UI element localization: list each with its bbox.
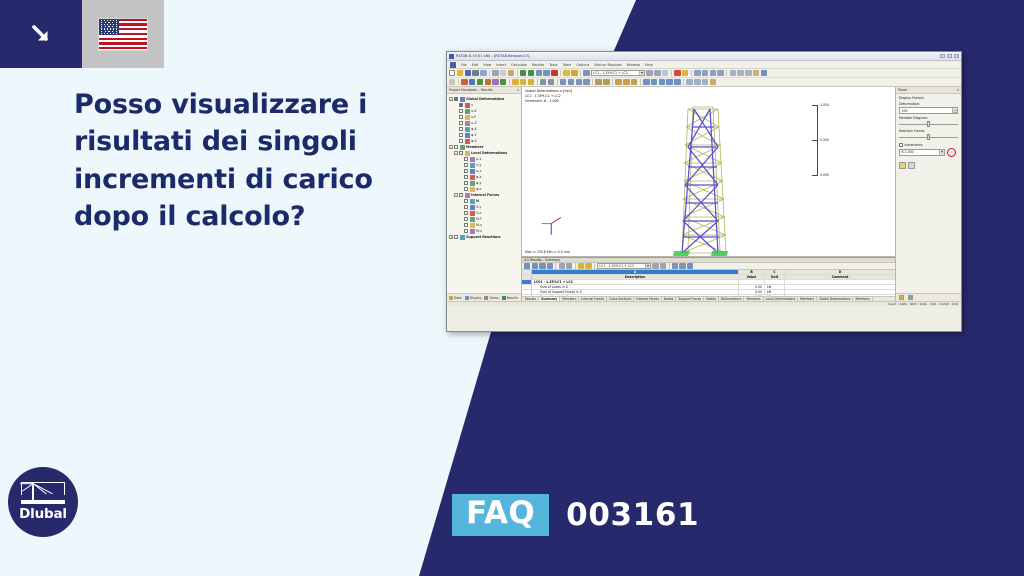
table-tab[interactable]: Members: [560, 296, 579, 301]
filter-icon[interactable]: [560, 79, 566, 85]
table-prev-icon[interactable]: [652, 263, 658, 269]
tree-spacer: [454, 139, 458, 143]
layer-icon[interactable]: [583, 79, 589, 85]
navigator-tab-data[interactable]: Data: [449, 296, 462, 300]
tree-spacer: [454, 133, 458, 137]
text-icon[interactable]: [548, 79, 554, 85]
tree-item-icon: [465, 121, 470, 126]
tree-checkbox[interactable]: [454, 97, 458, 101]
navigator-footer-tabs[interactable]: Data Display Views Results: [447, 293, 521, 301]
tree-item-icon: [460, 145, 465, 150]
tree-item-label: V-z: [476, 211, 481, 215]
table-tab[interactable]: Nodes: [704, 296, 719, 301]
table-copy-icon[interactable]: [566, 263, 572, 269]
diagram-icon[interactable]: [682, 70, 688, 76]
transparent-icon[interactable]: [631, 79, 637, 85]
navigator-tab-results[interactable]: Results: [502, 296, 519, 300]
table-tab[interactable]: Members: [744, 296, 763, 301]
toolbar-separator: [669, 263, 670, 269]
tree-item-label: M-T: [476, 217, 482, 221]
table-export-icon[interactable]: [547, 263, 553, 269]
table-select-icon[interactable]: [524, 263, 530, 269]
table-tab[interactable]: Local Deformations: [764, 296, 798, 301]
help-icon[interactable]: [761, 70, 767, 76]
zoom-out-icon[interactable]: [543, 70, 549, 76]
open-icon[interactable]: [457, 70, 463, 76]
snap-icon[interactable]: [737, 70, 743, 76]
dlubal-logo[interactable]: Dlubal: [8, 467, 78, 537]
row-handle: [522, 270, 532, 274]
section-icon[interactable]: [500, 79, 506, 85]
load-surface-icon[interactable]: [528, 79, 534, 85]
isometric-icon[interactable]: [595, 79, 601, 85]
node-icon[interactable]: [461, 79, 467, 85]
app-icon: [449, 54, 454, 59]
menu-item-insert[interactable]: Insert: [496, 63, 506, 67]
cell-value: 0.00: [739, 285, 765, 289]
render-icon[interactable]: [662, 70, 668, 76]
ortho-icon[interactable]: [745, 70, 751, 76]
navigator-tab-views[interactable]: Views: [484, 296, 498, 300]
window-title: RSTAB 8.19.01 x64 - [RSTAB-Beispiel-07]: [456, 54, 938, 58]
tree-toggle-icon[interactable]: +: [449, 235, 453, 239]
menu-item-table[interactable]: Table: [563, 63, 572, 67]
deformation-spinner[interactable]: 100: [899, 107, 958, 114]
cell-comment: [785, 285, 895, 289]
chevron-down-icon[interactable]: [939, 150, 944, 155]
tree-item-label: Members: [466, 145, 483, 149]
group-icon[interactable]: [576, 79, 582, 85]
menu-item-calculate[interactable]: Calculate: [511, 63, 527, 67]
tree-item-icon: [465, 115, 470, 120]
tree-checkbox[interactable]: [459, 109, 463, 113]
table-help-icon[interactable]: [687, 263, 693, 269]
navigator-header: Project Navigator - Results x: [447, 87, 521, 94]
result-iso-icon[interactable]: [659, 79, 665, 85]
deformation-label: Deformation:: [899, 102, 958, 106]
reaction-forces-slider[interactable]: [899, 134, 958, 140]
table-print-icon[interactable]: [559, 263, 565, 269]
tree-spacer: [459, 211, 463, 215]
table-column-header[interactable]: Comment: [785, 275, 895, 279]
cell-unit: kN: [765, 290, 785, 294]
increments-combo[interactable]: 6 1.000: [899, 149, 945, 156]
row-handle[interactable]: [522, 290, 532, 294]
display-panel[interactable]: Panel x Display Factors Deformation: 100…: [895, 87, 961, 301]
tree-checkbox[interactable]: [464, 199, 468, 203]
visibility-icon[interactable]: [568, 79, 574, 85]
member-diagram-label: Member Diagram:: [899, 116, 958, 120]
panel-lock-icon[interactable]: [899, 295, 904, 300]
tree-checkbox[interactable]: [459, 151, 463, 155]
toolbar-row-2[interactable]: [447, 78, 961, 87]
table-tab[interactable]: Internal Forces: [634, 296, 662, 301]
tree-checkbox[interactable]: [459, 133, 463, 137]
table-filter-icon[interactable]: [532, 263, 538, 269]
panel-action-buttons[interactable]: [896, 156, 961, 175]
deformation-icon[interactable]: [674, 70, 680, 76]
tree-item-icon: [470, 169, 475, 174]
result-scale-bar: 1.000 0.500 0.000: [807, 101, 835, 179]
tree-item-label: Global Deformations: [466, 97, 504, 101]
table-column-letter[interactable]: B: [739, 270, 765, 274]
status-bar-item: SCRL: [920, 302, 927, 306]
toolbar-separator: [612, 79, 613, 85]
table-column-letter[interactable]: C: [765, 270, 785, 274]
table-column-header[interactable]: Unit: [765, 275, 785, 279]
tree-checkbox[interactable]: [464, 223, 468, 227]
tree-item-label: V-y: [476, 205, 481, 209]
faq-number: 003161: [566, 497, 699, 533]
cut-icon[interactable]: [492, 70, 498, 76]
screenshot-icon[interactable]: [694, 79, 700, 85]
loadcase-icon[interactable]: [583, 70, 589, 76]
tree-item-icon: [465, 193, 470, 198]
tree-item-label: u-x: [476, 157, 481, 161]
scale-label-1: 1.000: [820, 103, 829, 107]
tree-spacer: [459, 175, 463, 179]
panel-edit-icon[interactable]: [899, 162, 906, 169]
toolbar-separator: [509, 79, 510, 85]
tree-item-icon: [465, 139, 470, 144]
view-xz-icon[interactable]: [710, 70, 716, 76]
table-next-icon[interactable]: [660, 263, 666, 269]
rotate-icon[interactable]: [603, 79, 609, 85]
toolbar-separator: [517, 70, 518, 76]
tree-item-label: u-y: [476, 163, 481, 167]
tree-item-label: Local Deformations: [471, 151, 507, 155]
tree-item-label: u: [471, 103, 473, 107]
result-scale-icon[interactable]: [651, 79, 657, 85]
navigator-close-icon[interactable]: x: [517, 88, 519, 92]
tree-item-label: M-z: [476, 229, 482, 233]
cell-unit: [765, 280, 785, 284]
increments-checkbox[interactable]: [899, 143, 903, 147]
panel-close-icon[interactable]: x: [957, 88, 959, 92]
tree-checkbox[interactable]: [464, 187, 468, 191]
menu-item-tools[interactable]: Tools: [549, 63, 557, 67]
tree-spacer: [459, 169, 463, 173]
table-tab[interactable]: Nodes: [662, 296, 677, 301]
panel-header: Panel x: [896, 87, 961, 94]
result-values-icon[interactable]: [643, 79, 649, 85]
menu-item-file[interactable]: File: [461, 63, 467, 67]
table-tab[interactable]: Summary: [539, 296, 560, 301]
menu-item-options[interactable]: Options: [576, 63, 589, 67]
display-factors-label: Display Factors: [899, 96, 958, 100]
scale-label-2: 0.500: [820, 138, 829, 142]
tree-checkbox[interactable]: [464, 211, 468, 215]
menu-item-help[interactable]: Help: [645, 63, 653, 67]
load-member-icon[interactable]: [520, 79, 526, 85]
new-icon[interactable]: [449, 70, 455, 76]
toolbar-separator: [537, 79, 538, 85]
language-flag-box[interactable]: [82, 0, 164, 68]
spinner-arrows-icon[interactable]: [952, 108, 957, 113]
copy-icon[interactable]: [500, 70, 506, 76]
toolbar-separator: [560, 70, 561, 76]
tree-item-icon: [470, 199, 475, 204]
tree-spacer: [454, 127, 458, 131]
zoom-in-icon[interactable]: [536, 70, 542, 76]
status-bar-item: CLOSE: [939, 302, 948, 306]
redo-icon[interactable]: [528, 70, 534, 76]
panel-settings-icon[interactable]: [908, 162, 915, 169]
row-handle[interactable]: [522, 285, 532, 289]
tree-item-icon: [470, 217, 475, 222]
tree-item-label: Support Reactions: [466, 235, 500, 239]
navigator-tab-display[interactable]: Display: [465, 296, 482, 300]
calculate-icon[interactable]: [563, 70, 569, 76]
menu-bar[interactable]: File Edit View Insert Calculate Results …: [447, 61, 961, 69]
table-tab[interactable]: Results: [523, 296, 539, 301]
tree-toggle-icon[interactable]: -: [454, 151, 458, 155]
tree-item-icon: [465, 133, 470, 138]
cell-value: [739, 280, 765, 284]
tree-item-icon: [470, 229, 475, 234]
tree-item-label: Internal Forces: [471, 193, 499, 197]
cell-value: 0.00: [739, 290, 765, 294]
menu-item-window[interactable]: Window: [627, 63, 640, 67]
table-tab[interactable]: Cross-Sections: [607, 296, 634, 301]
tree-checkbox[interactable]: [464, 169, 468, 173]
minimize-icon[interactable]: [940, 54, 945, 58]
tree-checkbox[interactable]: [464, 181, 468, 185]
increments-highlight-marker: [947, 148, 956, 157]
cell-description: Sum of Loads in X: [532, 285, 739, 289]
table-tab[interactable]: Support Forces: [676, 296, 704, 301]
line-icon[interactable]: [469, 79, 475, 85]
undo-icon[interactable]: [520, 70, 526, 76]
tree-checkbox[interactable]: [464, 157, 468, 161]
tree-checkbox[interactable]: [464, 217, 468, 221]
table-highlight-icon[interactable]: [585, 263, 591, 269]
tree-checkbox[interactable]: [459, 193, 463, 197]
result-color-icon[interactable]: [666, 79, 672, 85]
settings-icon[interactable]: [710, 79, 716, 85]
table-load-case-combo[interactable]: LC1 - 1.35*LC1 + LC2: [597, 263, 651, 269]
tree-checkbox[interactable]: [454, 145, 458, 149]
faq-footer: FAQ 003161: [452, 494, 699, 536]
tree-item-label: φ-Z: [471, 139, 477, 143]
cell-comment: [785, 280, 895, 284]
toolbar-separator: [592, 79, 593, 85]
status-bar: InsertCAPSNUMSCRLOVRCLOSEOVR: [447, 301, 961, 306]
status-bar-item: Insert: [888, 302, 896, 306]
table-column-letter[interactable]: D: [785, 270, 895, 274]
tree-spacer: [459, 187, 463, 191]
table-tab[interactable]: Members: [853, 296, 872, 301]
tree-spacer: [454, 121, 458, 125]
load-node-icon[interactable]: [512, 79, 518, 85]
slide-root: Posso visualizzare i risultati dei singo…: [0, 0, 1024, 576]
menu-item-view[interactable]: View: [483, 63, 491, 67]
member-icon[interactable]: [477, 79, 483, 85]
tree-toggle-icon[interactable]: -: [454, 193, 458, 197]
window-title-bar[interactable]: RSTAB 8.19.01 x64 - [RSTAB-Beispiel-07]: [447, 52, 961, 61]
table-column-header[interactable]: Value: [739, 275, 765, 279]
member-diagram-slider[interactable]: [899, 121, 958, 127]
cell-comment: [785, 290, 895, 294]
tree-item-icon: [470, 205, 475, 210]
result-anim-icon[interactable]: [674, 79, 680, 85]
menu-app-icon: [450, 62, 456, 68]
preview-icon[interactable]: [480, 70, 486, 76]
grid-icon[interactable]: [730, 70, 736, 76]
window-body: Project Navigator - Results x -Global De…: [447, 87, 961, 301]
view-iso-icon[interactable]: [694, 70, 700, 76]
tree-spacer: [454, 109, 458, 113]
table-edit-icon[interactable]: [672, 263, 678, 269]
tree-item-icon: [470, 175, 475, 180]
increments-value: 6 1.000: [902, 150, 914, 154]
menu-item-edit[interactable]: Edit: [472, 63, 479, 67]
tree-checkbox[interactable]: [459, 103, 463, 107]
tree-checkbox[interactable]: [464, 163, 468, 167]
view-xy-icon[interactable]: [702, 70, 708, 76]
navigator-tree[interactable]: -Global Deformationsuu-Xu-Yu-Zφ-Xφ-Yφ-Z-…: [447, 94, 521, 293]
faq-badge: FAQ: [452, 494, 549, 536]
max-min-info: Max u: 235.8 Min u: 0.0 mm: [525, 250, 570, 254]
table-color-icon[interactable]: [578, 263, 584, 269]
tree-checkbox[interactable]: [464, 175, 468, 179]
status-bar-item: NUM: [910, 302, 917, 306]
tree-checkbox[interactable]: [454, 235, 458, 239]
row-handle: [522, 275, 532, 279]
display-factors-section: Display Factors Deformation: 100 Member …: [896, 94, 961, 156]
project-navigator[interactable]: Project Navigator - Results x -Global De…: [447, 87, 522, 301]
tree-item-icon: [470, 223, 475, 228]
toolbar-separator: [640, 79, 641, 85]
tree-item-icon: [470, 157, 475, 162]
tree-spacer: [459, 217, 463, 221]
tree-item-icon: [465, 109, 470, 114]
tree-item-icon: [470, 187, 475, 192]
object-info-icon[interactable]: [753, 70, 759, 76]
view-yz-icon[interactable]: [717, 70, 723, 76]
table-sort-icon[interactable]: [539, 263, 545, 269]
results-table-panel[interactable]: 4.0 Results - Summary: [522, 257, 895, 301]
increments-row[interactable]: Increments: [899, 143, 958, 147]
tree-spacer: [454, 103, 458, 107]
results-table-toolbar[interactable]: LC1 - 1.35*LC1 + LC2: [522, 263, 895, 270]
tree-item-label: φ-Y: [471, 133, 476, 137]
table-tab[interactable]: Members: [798, 296, 817, 301]
next-case-icon[interactable]: [654, 70, 660, 76]
toolbar-row-1[interactable]: LC1 - 1.35*LC1 + LC2: [447, 69, 961, 78]
table-tab[interactable]: Global Deformations: [817, 296, 853, 301]
tree-spacer: [459, 223, 463, 227]
tree-item-label: φ-y: [476, 181, 481, 185]
tree-spacer: [459, 163, 463, 167]
support-icon[interactable]: [485, 79, 491, 85]
toolbar-separator: [726, 70, 727, 76]
results-grid[interactable]: ABCDDescriptionValueUnitCommentLC01 - 1.…: [522, 270, 895, 296]
window-controls[interactable]: [940, 54, 959, 58]
toolbar-separator: [580, 70, 581, 76]
export-icon[interactable]: [702, 79, 708, 85]
rstab-application-window[interactable]: RSTAB 8.19.01 x64 - [RSTAB-Beispiel-07] …: [446, 51, 962, 332]
increments-label: Increments: [905, 143, 923, 147]
tree-item-label: u-z: [476, 169, 481, 173]
print-icon[interactable]: [472, 70, 478, 76]
results-icon[interactable]: [571, 70, 577, 76]
chevron-down-icon[interactable]: [639, 71, 644, 75]
pointer-icon[interactable]: [449, 79, 455, 85]
tree-item-label: N: [476, 199, 479, 203]
table-tab[interactable]: Deformations: [719, 296, 745, 301]
solid-icon[interactable]: [623, 79, 629, 85]
wireframe-icon[interactable]: [615, 79, 621, 85]
top-left-badge: [0, 0, 164, 68]
table-column-header[interactable]: Description: [532, 275, 739, 279]
tree-item-label: u-Y: [471, 115, 476, 119]
save-icon[interactable]: [465, 70, 471, 76]
hinge-icon[interactable]: [492, 79, 498, 85]
close-icon[interactable]: [954, 54, 959, 58]
tree-checkbox[interactable]: [464, 205, 468, 209]
toolbar-separator: [683, 79, 684, 85]
download-arrow-box[interactable]: [0, 0, 82, 68]
dimension-icon[interactable]: [540, 79, 546, 85]
tree-checkbox[interactable]: [459, 127, 463, 131]
tree-checkbox[interactable]: [459, 115, 463, 119]
table-tab[interactable]: Internal Forces: [579, 296, 607, 301]
row-handle[interactable]: [522, 280, 532, 284]
navigator-tree-item[interactable]: +Support Reactions: [449, 234, 521, 240]
main-area: Global Deformations u [mm] LC1 : 1.35*LC…: [522, 87, 895, 301]
table-view-icon[interactable]: [679, 263, 685, 269]
load-case-combo-value: LC1 - 1.35*LC1 + LC2: [593, 71, 628, 75]
maximize-icon[interactable]: [947, 54, 952, 58]
toolbar-separator: [691, 70, 692, 76]
menu-item-results[interactable]: Results: [532, 63, 544, 67]
toolbar-separator: [594, 263, 595, 269]
table-column-letter[interactable]: A: [532, 270, 739, 274]
tree-toggle-icon[interactable]: -: [449, 97, 453, 101]
reaction-forces-label: Reaction Forces:: [899, 129, 958, 133]
tree-toggle-icon[interactable]: -: [449, 145, 453, 149]
tree-item-label: φ-z: [476, 187, 481, 191]
tree-item-label: M-y: [476, 223, 482, 227]
page-title: Posso visualizzare i risultati dei singo…: [74, 86, 404, 235]
load-case-combo[interactable]: LC1 - 1.35*LC1 + LC2: [591, 70, 645, 76]
prev-case-icon[interactable]: [646, 70, 652, 76]
panel-print-icon[interactable]: [908, 295, 913, 300]
printout-report-icon[interactable]: [686, 79, 692, 85]
zoom-fit-icon[interactable]: [551, 70, 557, 76]
menu-item-addon-modules[interactable]: Add-on Modules: [594, 63, 621, 67]
results-table-tabs[interactable]: ResultsSummaryMembersInternal ForcesCros…: [522, 296, 895, 301]
tree-checkbox[interactable]: [459, 139, 463, 143]
tree-spacer: [459, 157, 463, 161]
tree-spacer: [459, 199, 463, 203]
tree-checkbox[interactable]: [464, 229, 468, 233]
paste-icon[interactable]: [508, 70, 514, 76]
cell-description: LC01 - 1.35*LC1 + LC2: [532, 280, 739, 284]
cell-unit: kN: [765, 285, 785, 289]
chevron-down-icon[interactable]: [645, 264, 650, 268]
bridge-icon: [21, 482, 65, 504]
us-flag-icon: [99, 19, 147, 50]
panel-footer[interactable]: [896, 293, 961, 301]
tree-item-icon: [465, 103, 470, 108]
navigator-title: Project Navigator - Results: [449, 88, 493, 92]
tree-item-icon: [470, 211, 475, 216]
model-viewport[interactable]: Global Deformations u [mm] LC1 : 1.35*LC…: [522, 87, 895, 257]
tree-spacer: [454, 115, 458, 119]
tree-checkbox[interactable]: [459, 121, 463, 125]
